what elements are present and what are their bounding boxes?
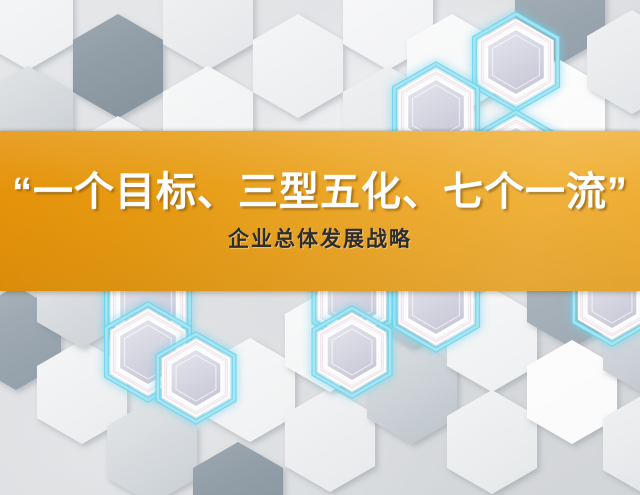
hexagon-tile — [253, 14, 343, 118]
hexagon-tile — [285, 388, 375, 492]
glowing-hexagon — [474, 14, 557, 110]
banner-content: “一个目标、三型五化、七个一流” 企业总体发展战略 — [0, 131, 640, 291]
hexagon-tile — [193, 442, 283, 495]
hexagon-tile — [73, 14, 163, 118]
glowing-hexagon — [158, 334, 234, 422]
glowing-hexagon — [314, 308, 390, 396]
hexagon-tile — [447, 390, 537, 494]
slide-canvas: “一个目标、三型五化、七个一流” 企业总体发展战略 — [0, 0, 640, 495]
hexagon-tile — [163, 0, 253, 70]
page-subtitle: 企业总体发展战略 — [228, 227, 412, 253]
page-title: “一个目标、三型五化、七个一流” — [12, 169, 628, 215]
hexagon-tile — [0, 0, 73, 70]
title-banner: “一个目标、三型五化、七个一流” 企业总体发展战略 — [0, 131, 640, 291]
